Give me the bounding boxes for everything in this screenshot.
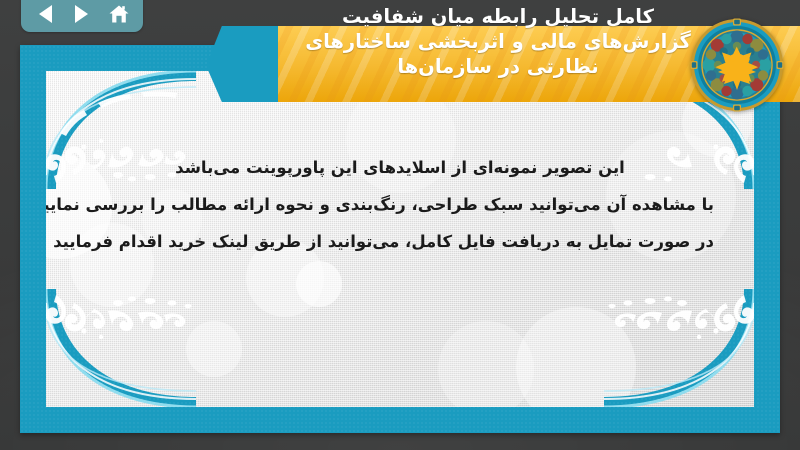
home-button[interactable] [105,1,133,27]
slide-content-area: این تصویر نمونه‌ای از اسلایدهای این پاور… [46,71,754,407]
presentation-slide: این تصویر نمونه‌ای از اسلایدهای این پاور… [0,0,800,450]
islamic-medallion-ornament-icon [690,18,784,112]
next-slide-button[interactable] [68,1,96,27]
body-line-2: با مشاهده آن می‌توانید سبک طراحی، رنگ‌بن… [86,186,714,223]
previous-slide-button[interactable] [31,1,59,27]
title-line-3: نظارتی در سازمان‌ها [397,54,598,79]
title-line-1: کامل تحلیل رابطه میان شفافیت [342,4,654,29]
previous-arrow-icon [39,5,52,23]
bokeh-circle [296,261,342,307]
slide-body-text: این تصویر نمونه‌ای از اسلایدهای این پاور… [86,149,714,260]
title-line-2: گزارش‌های مالی و اثربخشی ساختارهای [305,29,691,54]
bokeh-circle [186,321,242,377]
home-icon [108,4,130,24]
next-arrow-icon [75,5,88,23]
body-line-1: این تصویر نمونه‌ای از اسلایدهای این پاور… [86,149,714,186]
slide-navigation-bar[interactable] [21,0,143,32]
body-line-3: در صورت تمایل به دریافت فایل کامل، می‌تو… [86,223,714,260]
